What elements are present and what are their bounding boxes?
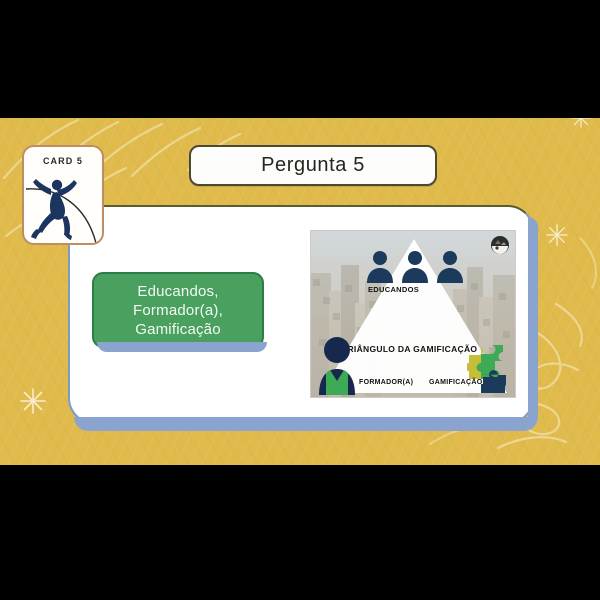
question-header-banner: Pergunta 5 [189,145,437,186]
instructor-person-icon [317,337,357,395]
letterbox-bottom-bar [0,465,600,600]
card-tab-label: CARD 5 [24,156,102,166]
answer-line-1: Educandos, [137,282,218,301]
three-people-icon [365,249,465,285]
letterbox-top-bar [0,0,600,118]
illustration-label-gamificacao: GAMIFICAÇÃO [429,379,482,386]
answer-line-3: Gamificação [135,320,221,339]
answer-chip: Educandos, Formador(a), Gamificação [92,272,264,348]
slide-screenshot: Pergunta 5 CARD 5 [0,0,600,600]
illustration-label-educandos: EDUCANDOS [368,285,419,294]
answer-line-2: Formador(a), [133,301,223,320]
sparkle-icon [546,224,568,246]
illustration-label-formador: FORMADOR(A) [359,379,413,386]
gamification-triangle-illustration: EDUCANDOS TRIÂNGULO DA GAMIFICAÇÃO FORMA… [310,230,516,398]
illustration-label-triangulo: TRIÂNGULO DA GAMIFICAÇÃO [342,344,477,354]
pole-vaulter-icon [24,167,104,245]
sparkle-icon [20,388,46,414]
page-title: Pergunta 5 [261,154,365,177]
circular-logo-icon [490,235,510,255]
card-number-tab: CARD 5 [22,145,104,245]
sparkle-icon [571,118,591,128]
